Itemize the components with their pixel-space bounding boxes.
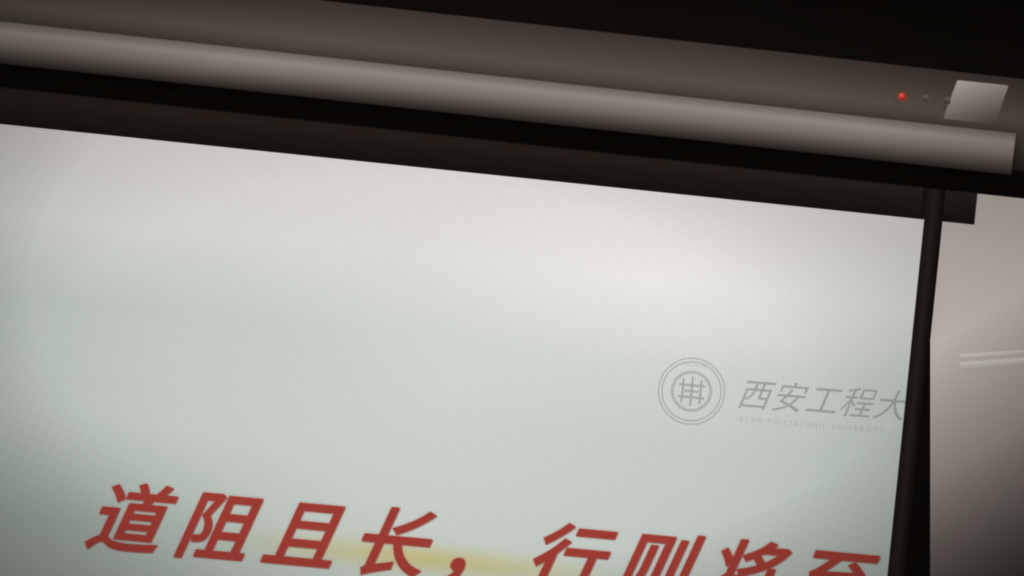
power-led-icon	[898, 93, 906, 101]
screen-down-button[interactable]	[944, 97, 951, 104]
screenshot-root: 西安工程大学 1912 西安工程大学 XI'AN POLYTECHNIC UNI…	[0, 0, 1024, 576]
control-label-down: 下降	[939, 105, 947, 111]
control-label-power: 电源	[894, 100, 902, 106]
screen-up-stop-button[interactable]	[922, 95, 929, 102]
control-label-up-stop: 上升 停止	[916, 102, 932, 109]
